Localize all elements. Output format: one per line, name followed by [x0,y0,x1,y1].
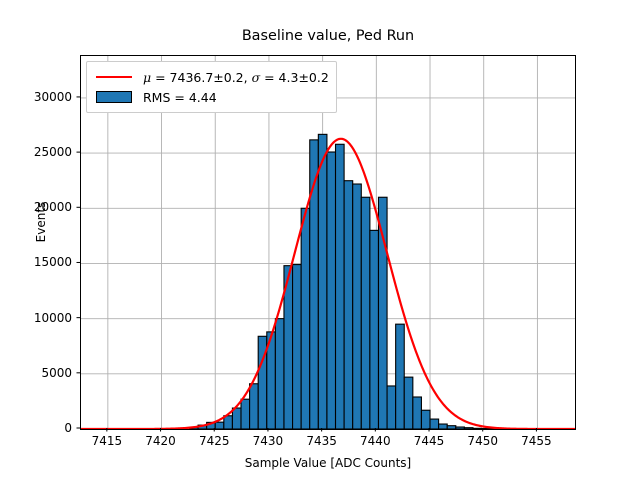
x-tick-label: 7440 [360,434,391,448]
histogram-bar [232,408,241,429]
y-tick-label: 25000 [0,145,72,159]
x-tick-label: 7430 [253,434,284,448]
histogram-bar [250,384,259,429]
page-title: Baseline value, Ped Run [80,28,576,45]
legend: μ = 7436.7±0.2, σ = 4.3±0.2 RMS = 4.44 [86,61,337,113]
histogram-bar [301,208,310,429]
x-tick-label: 7450 [467,434,498,448]
legend-item-rms: RMS = 4.44 [94,87,329,107]
x-axis-label: Sample Value [ADC Counts] [80,456,576,470]
histogram-bar [456,427,465,429]
histogram-bar [215,422,224,429]
histogram-bar [413,397,422,429]
sigma-symbol: σ [252,70,261,85]
patch-swatch-icon [94,90,134,104]
plot-axes: μ = 7436.7±0.2, σ = 4.3±0.2 RMS = 4.44 [80,55,576,430]
histogram-bar [421,410,430,429]
histogram-bar [336,144,345,429]
mu-symbol: μ [143,70,151,85]
x-tick-label: 7455 [521,434,552,448]
x-tick-label: 7420 [145,434,176,448]
y-tick-label: 30000 [0,90,72,104]
sigma-value: = 4.3±0.2 [260,70,329,85]
histogram-bar [361,197,370,429]
y-tick-label: 0 [0,421,72,435]
histogram-bar [464,428,473,429]
histogram-bar [241,399,250,429]
histogram-bar [293,265,302,429]
x-tick-label: 7445 [414,434,445,448]
histogram-bar [439,424,448,429]
histogram-bar [430,419,439,429]
histogram-bar [344,181,353,429]
legend-label-fit: μ = 7436.7±0.2, σ = 4.3±0.2 [143,70,329,85]
line-swatch-icon [94,70,134,84]
histogram-bar [473,428,482,429]
y-tick-label: 10000 [0,311,72,325]
x-tick-label: 7415 [92,434,123,448]
histogram-bar [447,426,456,429]
histogram-bar [353,184,362,429]
matplotlib-figure: Baseline value, Ped Run μ = 7436.7±0.2, … [0,0,640,480]
x-tick-label: 7435 [306,434,337,448]
mu-value: = 7436.7±0.2, [151,70,251,85]
legend-item-fit: μ = 7436.7±0.2, σ = 4.3±0.2 [94,67,329,87]
histogram-bars [189,134,507,429]
histogram-bar [404,377,413,429]
legend-label-rms: RMS = 4.44 [143,90,217,105]
histogram-bar [396,324,405,429]
y-axis-label: Events [34,172,48,272]
x-tick-label: 7425 [199,434,230,448]
histogram-bar [370,230,379,429]
histogram-bar [327,152,336,429]
histogram-bar [378,197,387,429]
histogram-bar [275,319,284,429]
histogram-bar [318,134,327,429]
histogram-bar [387,386,396,429]
y-tick-label: 5000 [0,366,72,380]
